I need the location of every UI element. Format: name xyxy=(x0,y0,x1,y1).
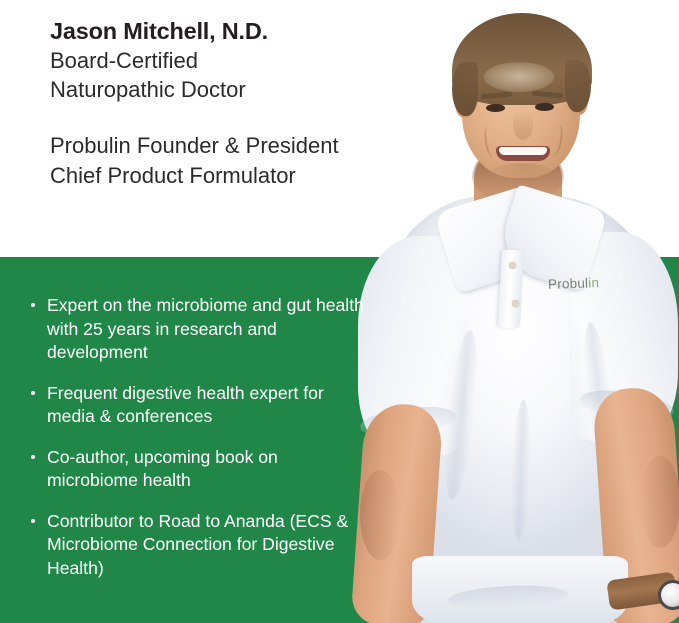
role-line-2: Chief Product Formulator xyxy=(50,161,450,191)
list-item-label: Frequent digestive health expert for med… xyxy=(47,383,324,427)
probulin-logo-text: Probul xyxy=(548,275,589,291)
list-item: Co-author, upcoming book on microbiome h… xyxy=(28,446,368,493)
hair-side-right xyxy=(565,60,591,112)
bullet-dot-icon xyxy=(31,303,35,307)
profile-card: Probulin Jason Mitchell, N.D. Board-Cert… xyxy=(0,0,679,623)
mouth xyxy=(496,146,550,161)
list-item-label: Contributor to Road to Ananda (ECS & Mic… xyxy=(47,511,348,578)
chin-shading xyxy=(492,163,552,181)
bullet-dot-icon xyxy=(31,455,35,459)
header-block: Jason Mitchell, N.D. Board-Certified Nat… xyxy=(50,16,430,104)
list-item: Contributor to Road to Ananda (ECS & Mic… xyxy=(28,510,368,581)
bullet-dot-icon xyxy=(31,519,35,523)
probulin-shirt-logo: Probulin xyxy=(548,275,600,292)
credential-line-1: Board-Certified xyxy=(50,46,430,75)
forehead-highlight xyxy=(484,62,554,92)
bullet-dot-icon xyxy=(31,391,35,395)
credentials-bullet-list: Expert on the microbiome and gut health … xyxy=(28,294,368,580)
role-line-1: Probulin Founder & President xyxy=(50,131,450,161)
hair-side-left xyxy=(452,62,478,116)
probulin-logo-accent: in xyxy=(588,275,599,290)
eye-right xyxy=(535,103,554,111)
page-title: Jason Mitchell, N.D. xyxy=(50,16,430,46)
arm-shading-right xyxy=(640,456,679,548)
polo-button xyxy=(512,300,519,307)
list-item-label: Co-author, upcoming book on microbiome h… xyxy=(47,447,278,491)
nose xyxy=(513,110,533,140)
teeth xyxy=(499,147,547,155)
credential-line-2: Naturopathic Doctor xyxy=(50,75,430,104)
list-item-label: Expert on the microbiome and gut health … xyxy=(47,295,364,362)
eye-left xyxy=(486,104,505,112)
list-item: Expert on the microbiome and gut health … xyxy=(28,294,368,365)
polo-button xyxy=(509,262,516,269)
role-block: Probulin Founder & President Chief Produ… xyxy=(50,131,450,191)
list-item: Frequent digestive health expert for med… xyxy=(28,382,368,429)
